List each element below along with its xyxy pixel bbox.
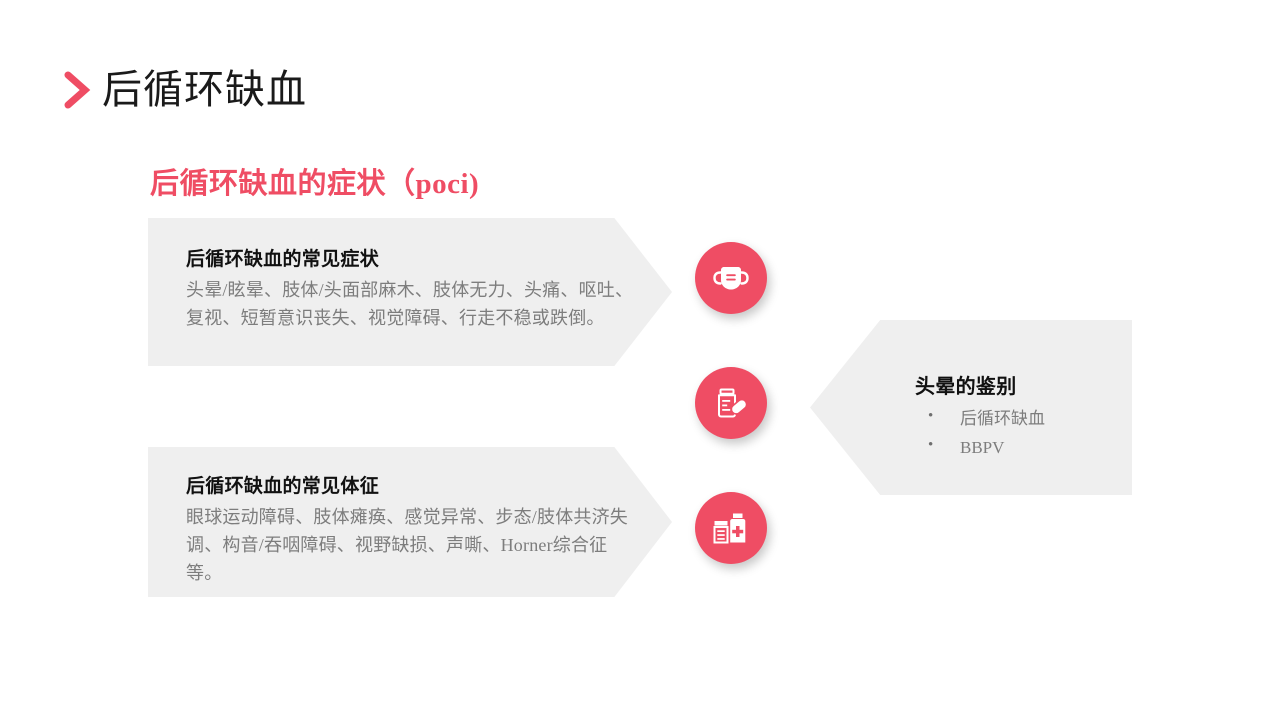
callout-symptoms: 后循环缺血的常见症状 头晕/眩晕、肢体/头面部麻木、肢体无力、头痛、呕吐、复视、… [148,218,672,366]
list-item: BBPV [928,434,1132,463]
pill-bottle-capsule-icon [714,386,748,420]
page-title: 后循环缺血 [102,70,307,110]
callout-signs: 后循环缺血的常见体征 眼球运动障碍、肢体瘫痪、感觉异常、步态/肢体共济失调、构音… [148,447,672,597]
icon-badge-medicine-bottles[interactable] [695,492,767,564]
callout-differential: 头晕的鉴别 后循环缺血 BBPV [810,320,1132,495]
section-subtitle: 后循环缺血的症状（poci) [150,160,479,202]
face-mask-icon [713,263,749,293]
differential-list: 后循环缺血 BBPV [810,405,1132,463]
list-item: 后循环缺血 [928,405,1132,434]
medicine-bottles-icon [713,512,749,544]
callout-signs-body: 眼球运动障碍、肢体瘫痪、感觉异常、步态/肢体共济失调、构音/吞咽障碍、视野缺损、… [186,504,641,588]
chevron-right-icon [62,70,92,110]
callout-symptoms-body: 头晕/眩晕、肢体/头面部麻木、肢体无力、头痛、呕吐、复视、短暂意识丧失、视觉障碍… [186,277,641,333]
callout-signs-heading: 后循环缺血的常见体征 [186,471,672,498]
slide-title-group: 后循环缺血 [62,70,307,110]
callout-symptoms-heading: 后循环缺血的常见症状 [186,244,672,271]
callout-differential-heading: 头晕的鉴别 [915,370,1132,399]
icon-badge-face-mask[interactable] [695,242,767,314]
icon-badge-pill-bottle[interactable] [695,367,767,439]
